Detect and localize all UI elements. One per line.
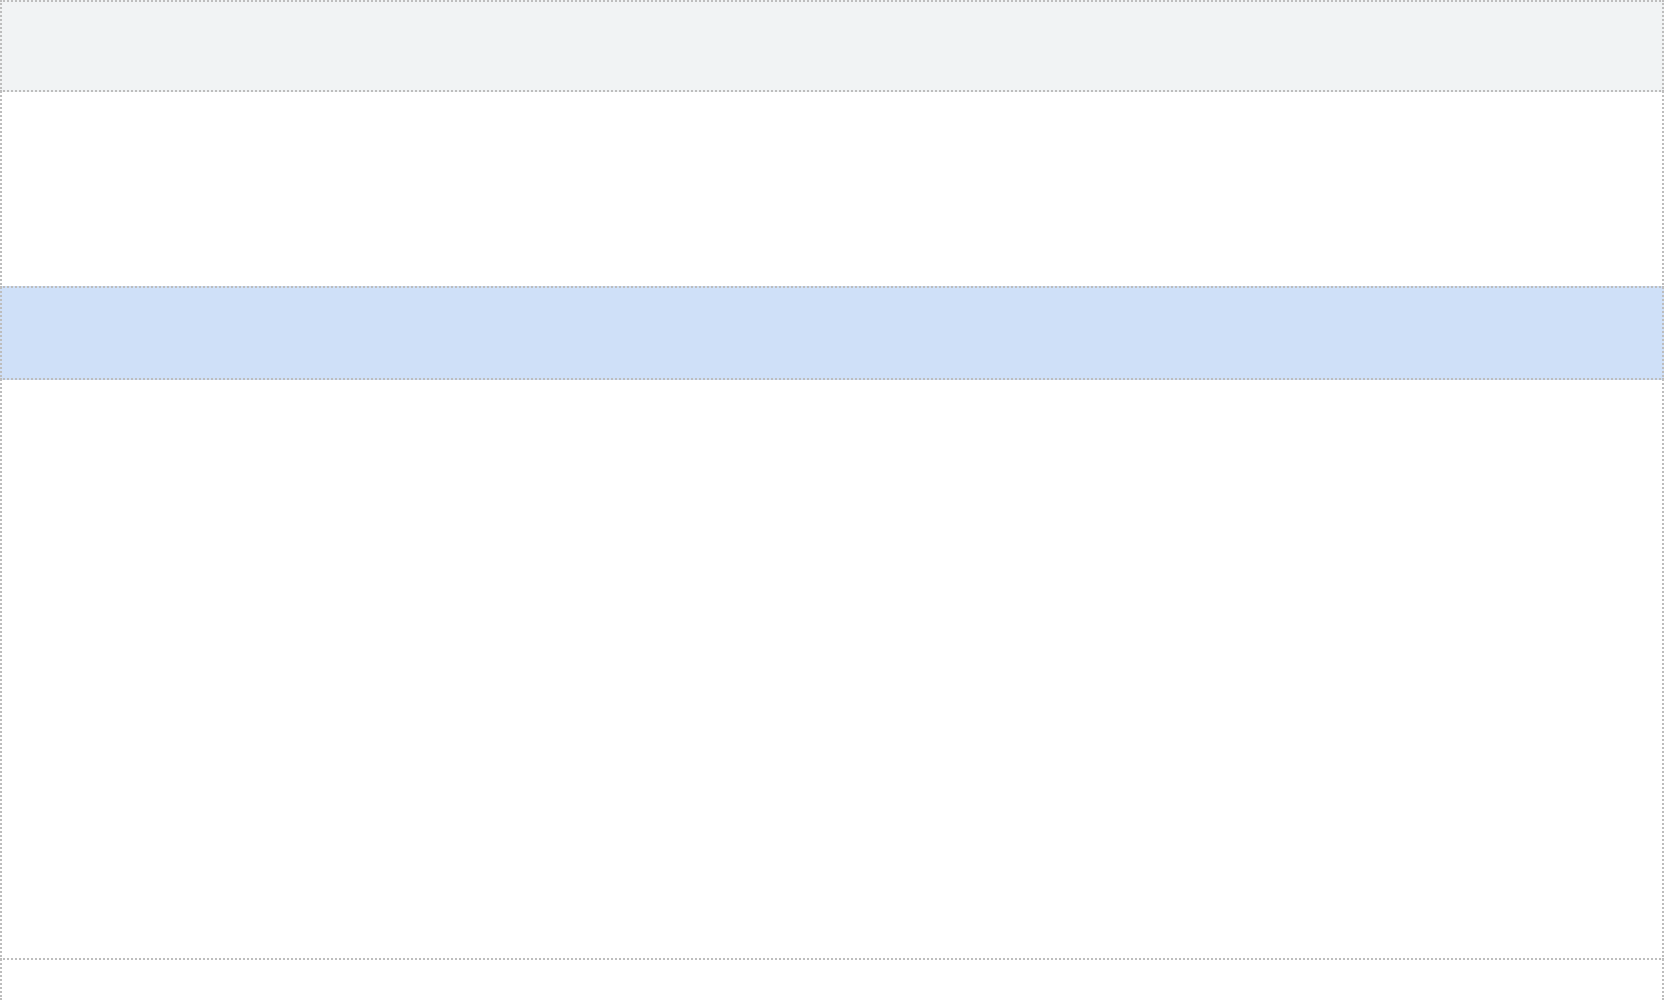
illustration-row xyxy=(0,144,1664,286)
step-band xyxy=(0,286,1664,380)
fledge-auction-diagram xyxy=(0,0,1664,1000)
footnote xyxy=(0,958,1664,1000)
body-row xyxy=(0,380,1664,958)
api-row xyxy=(0,92,1664,144)
header-row xyxy=(0,0,1664,92)
left-border xyxy=(0,0,2,1000)
